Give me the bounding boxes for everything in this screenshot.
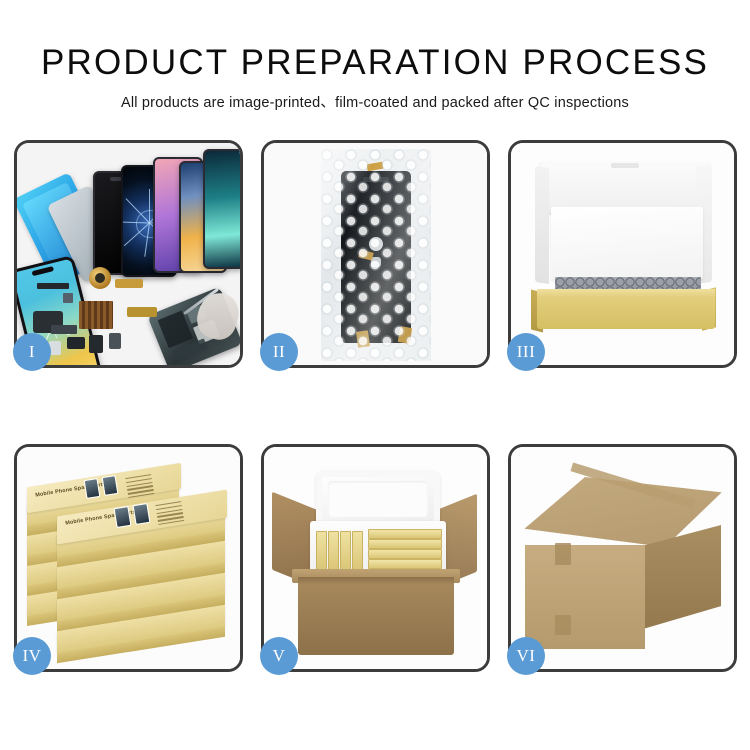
process-step-panel-2: II (261, 140, 490, 368)
step-badge-6: VI (507, 637, 545, 675)
product-preparation-infographic: PRODUCT PREPARATION PROCESS All products… (0, 0, 750, 750)
step-badge-3: III (507, 333, 545, 371)
process-step-panel-5: V (261, 444, 490, 672)
process-step-panel-4: Mobile Phone Spare Parts Mobile Phone Sp… (14, 444, 243, 672)
box-front-wall (537, 295, 715, 329)
page-title: PRODUCT PREPARATION PROCESS (0, 0, 750, 82)
box-bullet-lines-1 (125, 474, 154, 500)
chip-grid-icon (79, 301, 113, 329)
box-lid-left (535, 166, 549, 284)
box-artwork-thumb-2 (102, 475, 119, 496)
copper-coil-icon (89, 267, 111, 289)
part-square-3-icon (67, 337, 85, 349)
carton-tape-tab-2 (555, 615, 571, 635)
box-bullet-lines-2 (155, 501, 184, 527)
page-subtitle: All products are image-printed、film-coat… (0, 82, 750, 112)
step-badge-5: V (260, 637, 298, 675)
foam-sheet (551, 207, 703, 279)
yellow-boxes-stacked (368, 529, 442, 573)
flex-cable-1-icon (115, 279, 143, 288)
cable-strip-icon (51, 325, 77, 334)
process-step-panel-1: I (14, 140, 243, 368)
carton-front-face (525, 545, 645, 649)
part-square-5-icon (109, 333, 121, 349)
part-square-6-icon (63, 293, 73, 303)
step-3-image (511, 143, 734, 365)
step-1-image (17, 143, 240, 365)
step-badge-1: I (13, 333, 51, 371)
styrofoam-lid (316, 471, 440, 527)
bubble-wrap-bag (321, 149, 431, 361)
step-5-image (264, 447, 487, 669)
part-square-4-icon (89, 335, 103, 353)
box-artwork-thumb-3 (114, 506, 132, 528)
carton-body (298, 577, 454, 655)
step-4-image: Mobile Phone Spare Parts Mobile Phone Sp… (17, 447, 240, 669)
box-artwork-thumb-1 (84, 478, 101, 499)
step-6-image (511, 447, 734, 669)
process-step-panel-6: VI (508, 444, 737, 672)
phone-teal-icon (203, 149, 240, 269)
step-badge-4: IV (13, 637, 51, 675)
box-artwork-thumb-4 (133, 503, 151, 525)
page-header: PRODUCT PREPARATION PROCESS All products… (0, 0, 750, 112)
process-step-panel-3: III (508, 140, 737, 368)
flex-cable-2-icon (127, 307, 157, 317)
process-step-grid: I II (14, 140, 736, 672)
bag-sheen (321, 149, 431, 361)
carton-tape-tab-1 (555, 543, 571, 565)
part-bar-icon (37, 283, 69, 289)
step-badge-2: II (260, 333, 298, 371)
step-2-image (264, 143, 487, 365)
box-stack: Mobile Phone Spare Parts Mobile Phone Sp… (23, 469, 237, 659)
